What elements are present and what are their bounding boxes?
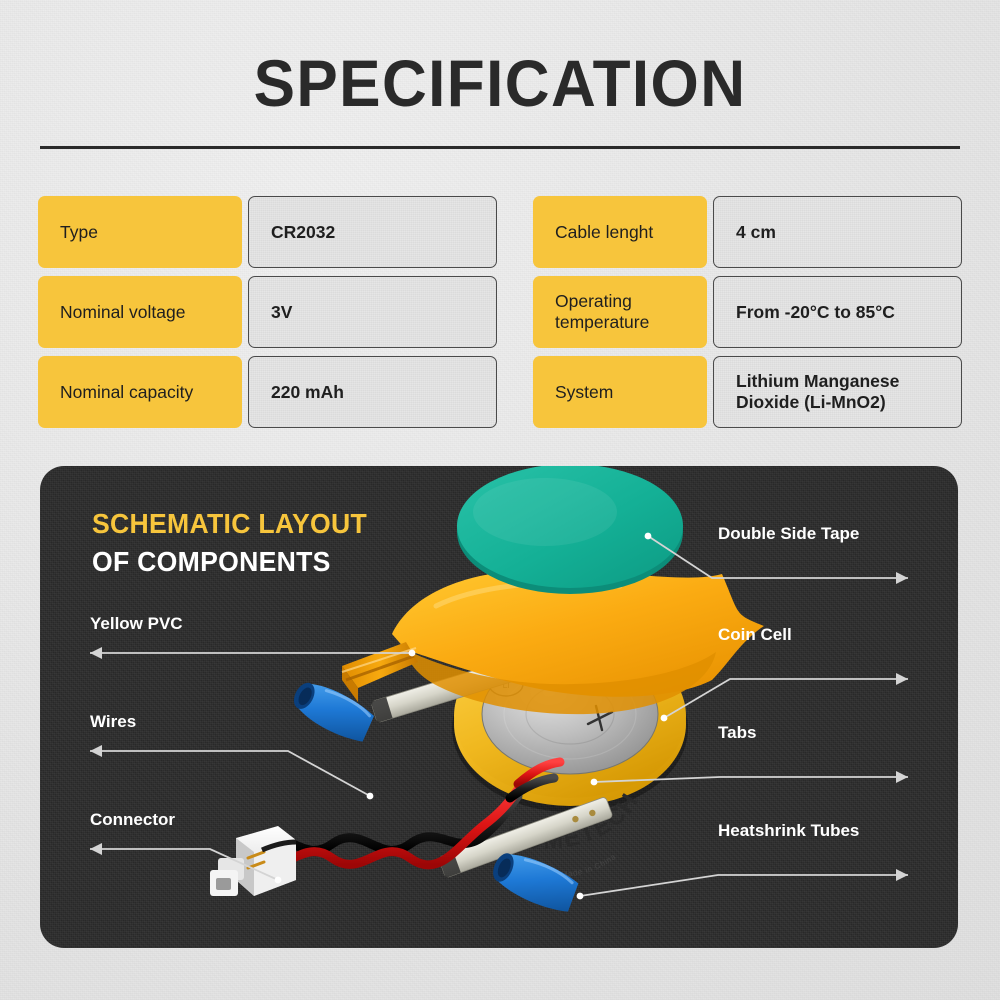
schematic-heading-line2: OF COMPONENTS [92, 546, 367, 578]
schematic-panel: SCHEMATIC LAYOUT OF COMPONENTS [40, 466, 958, 948]
spec-value-operating-temperature: From -20°C to 85°C [713, 276, 962, 348]
specification-infographic: SPECIFICATION Type CR2032 Cable lenght 4… [0, 0, 1000, 1000]
spec-value-nominal-capacity: 220 mAh [248, 356, 497, 428]
spec-label-system: System [533, 356, 707, 428]
specification-table: Type CR2032 Cable lenght 4 cm Nominal vo… [38, 196, 962, 428]
spec-label-operating-temperature: Operating temperature [533, 276, 707, 348]
title-divider [40, 146, 960, 149]
spec-value-system: Lithium Manganese Dioxide (Li-MnO2) [713, 356, 962, 428]
spec-label-nominal-voltage: Nominal voltage [38, 276, 242, 348]
callout-yellow-pvc: Yellow PVC [90, 614, 183, 634]
spec-value-cable-lenght: 4 cm [713, 196, 962, 268]
spec-value-nominal-voltage: 3V [248, 276, 497, 348]
callout-heatshrink-tubes: Heatshrink Tubes [718, 821, 859, 841]
spec-value-type: CR2032 [248, 196, 497, 268]
callout-coin-cell: Coin Cell [718, 625, 792, 645]
callout-wires: Wires [90, 712, 136, 732]
spec-label-type: Type [38, 196, 242, 268]
callout-connector: Connector [90, 810, 175, 830]
schematic-heading: SCHEMATIC LAYOUT OF COMPONENTS [92, 508, 381, 578]
callout-tabs: Tabs [718, 723, 756, 743]
callout-double-side-tape: Double Side Tape [718, 524, 859, 544]
page-title: SPECIFICATION [30, 48, 970, 118]
spec-label-nominal-capacity: Nominal capacity [38, 356, 242, 428]
spec-label-cable-lenght: Cable lenght [533, 196, 707, 268]
schematic-heading-line1: SCHEMATIC LAYOUT [92, 508, 367, 540]
